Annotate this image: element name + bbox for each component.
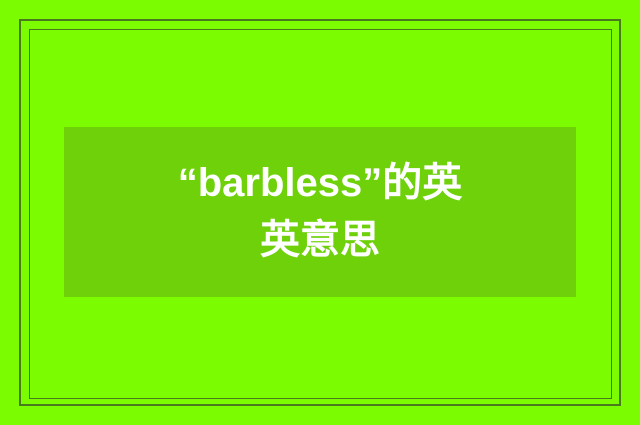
page-title: “barbless”的英英意思 <box>170 155 470 269</box>
page-canvas: “barbless”的英英意思 <box>0 0 640 425</box>
title-banner: “barbless”的英英意思 <box>64 127 576 297</box>
